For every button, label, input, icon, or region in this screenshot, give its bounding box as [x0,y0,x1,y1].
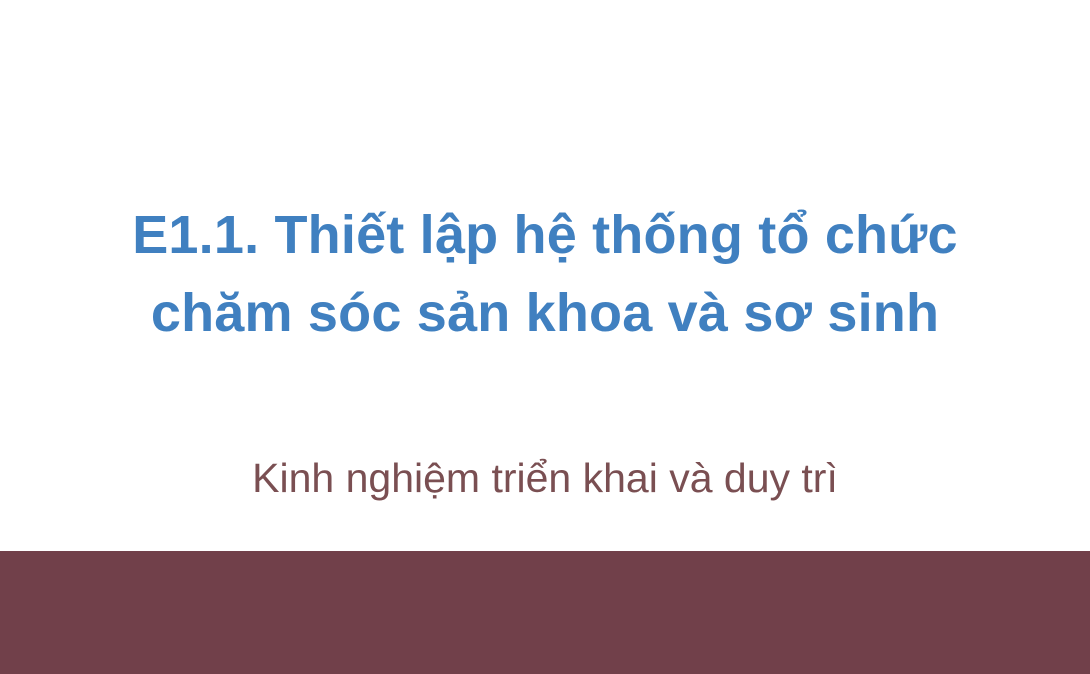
subtitle-text: Kinh nghiệm triển khai và duy trì [0,452,1090,504]
slide-canvas: E1.1. Thiết lập hệ thống tổ chức chăm só… [0,0,1090,674]
title-line-1: E1.1. Thiết lập hệ thống tổ chức [0,196,1090,274]
page-subtitle: Kinh nghiệm triển khai và duy trì [0,452,1090,504]
title-line-2: chăm sóc sản khoa và sơ sinh [0,274,1090,352]
page-title: E1.1. Thiết lập hệ thống tổ chức chăm só… [0,196,1090,352]
footer-band: • Phương án duy trì • Tiếp cận hệ thống … [0,551,1090,674]
